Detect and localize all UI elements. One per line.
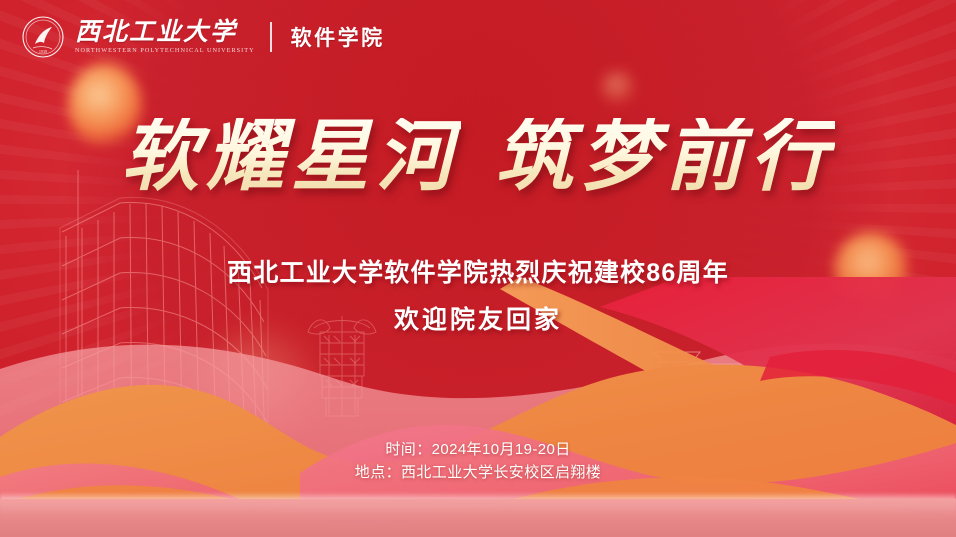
svg-text:1938: 1938 [39, 49, 47, 54]
main-title-part1: 软耀星河 [121, 118, 461, 196]
event-location: 地点：西北工业大学长安校区启翔楼 [0, 461, 956, 484]
brand-header: 1938 西北工业大学 NORTHWESTERN POLYTECHNICAL U… [22, 16, 385, 58]
subtitle-line-2: 欢迎院友回家 [0, 305, 956, 336]
university-name-en: NORTHWESTERN POLYTECHNICAL UNIVERSITY [75, 47, 255, 54]
event-info-block: 时间：2024年10月19-20日 地点：西北工业大学长安校区启翔楼 [0, 438, 956, 485]
glow-orb-icon [600, 70, 636, 106]
brand-divider [270, 22, 272, 52]
celebration-poster: 1938 西北工业大学 NORTHWESTERN POLYTECHNICAL U… [0, 0, 956, 537]
subtitle-block: 西北工业大学软件学院热烈庆祝建校86周年 欢迎院友回家 [0, 258, 956, 337]
event-time: 时间：2024年10月19-20日 [0, 438, 956, 461]
subtitle-line-1: 西北工业大学软件学院热烈庆祝建校86周年 [0, 258, 956, 289]
university-name-cn: 西北工业大学 [75, 20, 255, 46]
university-seal-icon: 1938 [22, 16, 64, 58]
main-title-part2: 筑梦前行 [495, 118, 835, 196]
school-name-cn: 软件学院 [291, 22, 385, 52]
brand-wordmark: 西北工业大学 NORTHWESTERN POLYTECHNICAL UNIVER… [75, 20, 255, 54]
footer-gradient-fade [0, 499, 956, 537]
main-title-block: 软耀星河筑梦前行 [0, 118, 956, 196]
